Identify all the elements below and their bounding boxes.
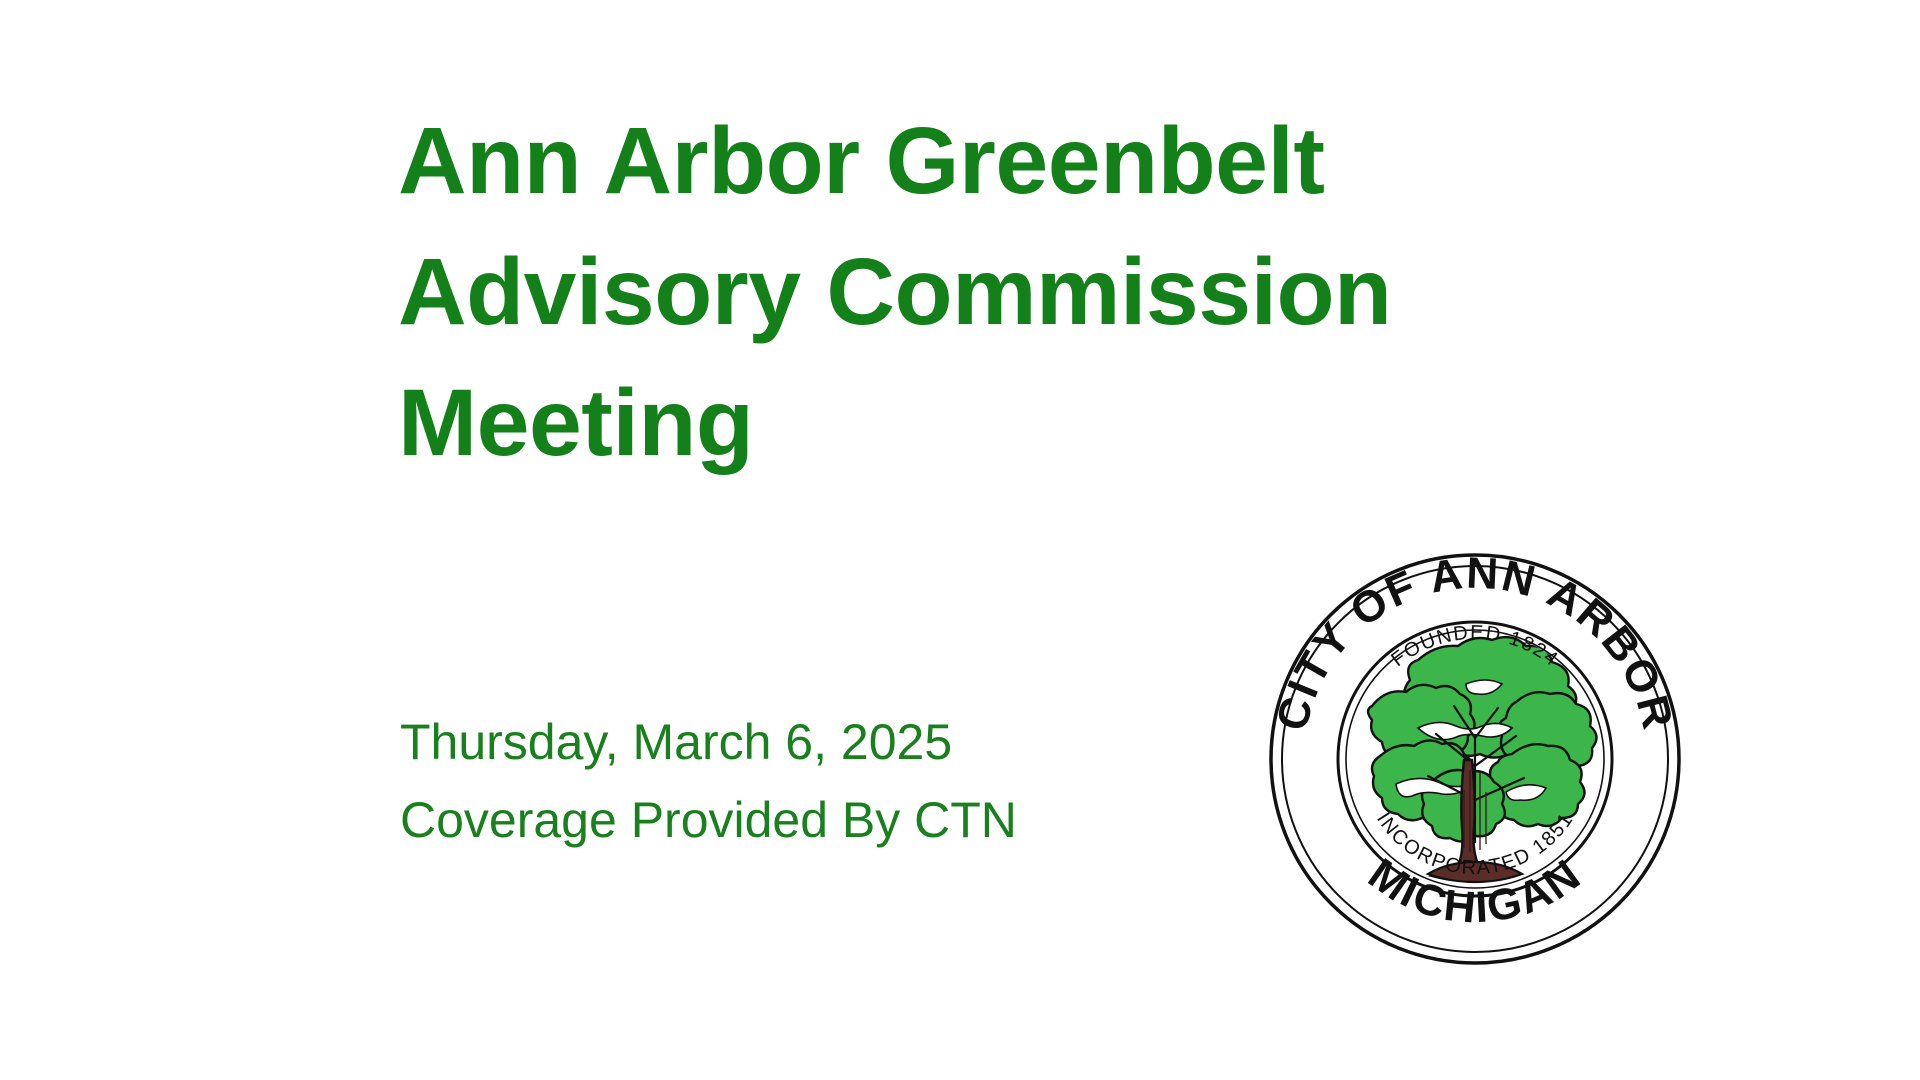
title-line-2: Advisory Commission [398, 227, 1578, 358]
coverage-credit: Coverage Provided By CTN [400, 781, 1160, 859]
page-title: Ann Arbor Greenbelt Advisory Commission … [398, 96, 1578, 489]
meeting-date: Thursday, March 6, 2025 [400, 703, 1160, 781]
title-line-1: Ann Arbor Greenbelt [398, 96, 1578, 227]
title-line-3: Meeting [398, 358, 1578, 489]
city-seal: CITY OF ANN ARBOR MICHIGAN FOUNDED 1824 … [1268, 552, 1682, 966]
subtitle: Thursday, March 6, 2025 Coverage Provide… [400, 703, 1160, 859]
presentation-slide: Ann Arbor Greenbelt Advisory Commission … [0, 0, 1920, 1080]
